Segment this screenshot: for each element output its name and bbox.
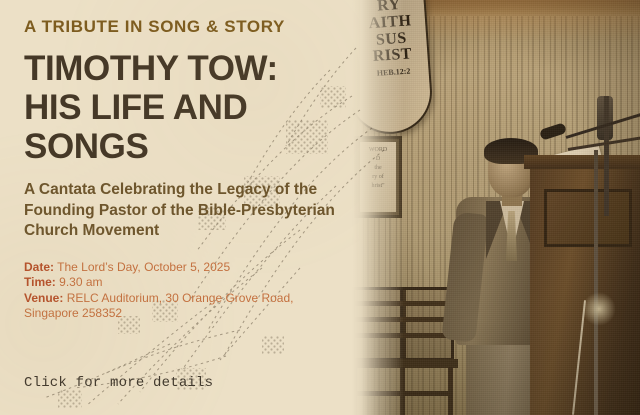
event-detail-venue-value: RELC Auditorium, 30 Orange Grove Road, S…: [24, 291, 293, 321]
headline-line-3: SONGS: [24, 127, 344, 166]
event-detail-date: Date: The Lord’s Day, October 5, 2025: [24, 260, 344, 276]
event-detail-date-value: The Lord’s Day, October 5, 2025: [57, 260, 230, 274]
event-detail-venue: Venue: RELC Auditorium, 30 Orange Grove …: [24, 291, 344, 322]
event-detail-time-value: 9.30 am: [59, 275, 102, 289]
click-for-more-details-link[interactable]: Click for more details: [24, 375, 213, 391]
event-detail-time-label: Time:: [24, 275, 56, 289]
poster-subheadline: A Cantata Celebrating the Legacy of the …: [24, 180, 342, 241]
event-detail-venue-label: Venue:: [24, 291, 63, 305]
page-title: TIMOTHY TOW: HIS LIFE AND SONGS: [24, 49, 344, 167]
poster-copy-panel: A TRIBUTE IN SONG & STORY TIMOTHY TOW: H…: [0, 0, 360, 415]
event-detail-time: Time: 9.30 am: [24, 275, 344, 291]
headline-line-1: TIMOTHY TOW:: [24, 49, 344, 88]
event-details: Date: The Lord’s Day, October 5, 2025 Ti…: [24, 260, 344, 322]
speaker-photograph: WORD D the ry of hrist" RY AITH SUS RIST…: [352, 0, 640, 415]
headline-line-2: HIS LIFE AND: [24, 88, 344, 127]
event-detail-date-label: Date:: [24, 260, 54, 274]
event-poster-banner[interactable]: WORD D the ry of hrist" RY AITH SUS RIST…: [0, 0, 640, 415]
poster-eyebrow: A TRIBUTE IN SONG & STORY: [24, 18, 344, 37]
